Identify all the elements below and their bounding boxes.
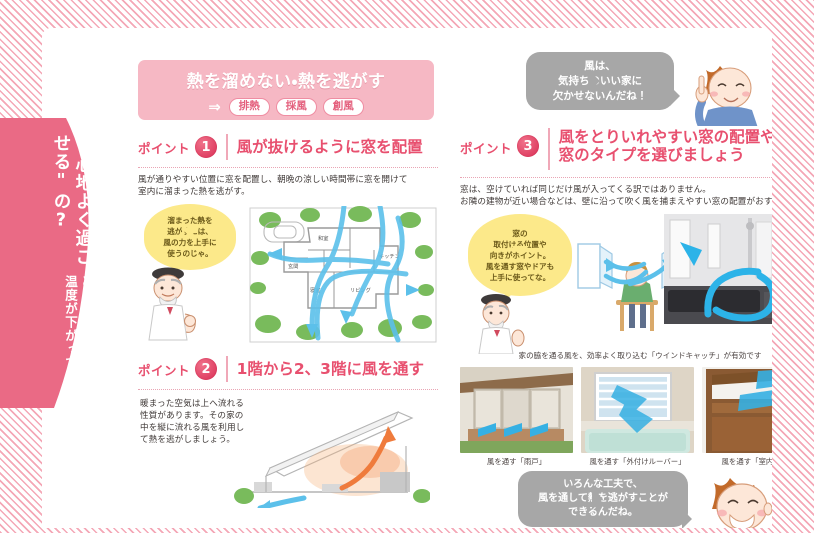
point-1-heading: ポイント 1 風が抜けるように窓を配置 <box>138 134 438 160</box>
header-chip-row: ⇒ 排熱 採風 創風 <box>138 98 434 116</box>
arrow-icon: ⇒ <box>208 98 221 116</box>
point-1-number-badge: 1 <box>195 136 217 158</box>
bottom-bubble-figure: いろんな工夫で、 風を通して熱を逃がすことが できるんだね。 <box>460 469 772 528</box>
point-1-figure: 溜まった熱を 逃がすには、 風の力を上手に 使うのじゃ。 <box>138 204 438 344</box>
shutter-photo <box>460 367 573 453</box>
point-2-title: 1階から2、3階に風を通す <box>237 360 424 378</box>
point-2-heading: ポイント 2 1階から2、3階に風を通す <box>138 356 438 382</box>
svg-text:玄関: 玄関 <box>288 262 298 270</box>
point-1-title: 風が抜けるように窓を配置 <box>237 138 423 156</box>
point-1-body: 風が通りやすい位置に窓を配置し、朝晩の涼しい時間帯に窓を開けて室内に溜まった熱を… <box>138 174 408 198</box>
svg-text:和室: 和室 <box>318 234 328 242</box>
point-2-number-badge: 2 <box>195 358 217 380</box>
interior-door-photo <box>702 367 772 453</box>
chip-hainetsu: 排熱 <box>229 98 270 116</box>
top-speech-bubble: 風は、 気持ちのいい家に 欠かせないんだね！ <box>526 52 674 110</box>
point-1-divider <box>226 134 228 160</box>
point-1-rule <box>138 167 438 168</box>
floorplan-diagram: 和室 キッチン 玄関 寝室 リビング <box>248 206 438 344</box>
point-3-figure: 窓の 取付ける位置や 向きがポイント。 風を通す窓やドアも 上手に使ってな。 <box>460 214 772 354</box>
point-3-divider <box>548 128 550 170</box>
point-3-bubble-text: 窓の 取付ける位置や 向きがポイント。 風を通す窓やドアも 上手に使ってな。 <box>486 228 554 283</box>
chip-soufu: 創風 <box>323 98 364 116</box>
photo-row: 風を通す「雨戸」 <box>460 367 772 467</box>
grandpa-illustration-2 <box>466 292 532 354</box>
house-section-diagram <box>230 396 430 508</box>
point-3-label: ポイント <box>460 138 512 157</box>
point-3-number-badge: 3 <box>517 135 539 157</box>
top-bubble-tail <box>670 86 690 106</box>
right-column: 風は、 気持ちのいい家に 欠かせないんだね！ ポイント 3 <box>460 48 772 528</box>
section-header-title: 熱を溜めない・熱を逃がす <box>138 67 434 92</box>
photo-caption-louver: 風を通す「外付けルーバー」 <box>581 456 694 467</box>
point-2-divider <box>226 356 228 382</box>
point-1-label: ポイント <box>138 138 190 157</box>
point-1-bubble-text: 溜まった熱を 逃がすには、 風の力を上手に 使うのじゃ。 <box>163 215 216 259</box>
boy-illustration-bottom <box>696 469 772 528</box>
point-3-title-line1: 風をとりいれやすい窓の配置や <box>559 128 772 146</box>
section-header-band: 熱を溜めない・熱を逃がす ⇒ 排熱 採風 創風 <box>138 60 434 120</box>
photo-item-interior-door: 風を通す「室内ドア」 <box>702 367 772 467</box>
louver-photo <box>581 367 694 453</box>
photo-caption-shutter: 風を通す「雨戸」 <box>460 456 573 467</box>
bottom-bubble-text: いろんな工夫で、 風を通して熱を逃がすことが できるんだね。 <box>538 478 668 520</box>
point-3-rule <box>460 177 772 178</box>
point-2-rule <box>138 389 438 390</box>
point-3-body-line2: お隣の建物が近い場合などは、壁に沿って吹く風を捕まえやすい窓の配置がおすすめです… <box>460 196 772 208</box>
photo-caption-interior-door: 風を通す「室内ドア」 <box>702 456 772 467</box>
point-3-heading: ポイント 3 風をとりいれやすい窓の配置や 窓のタイプを選びましょう <box>460 128 772 170</box>
photo-item-louver: 風を通す「外付けルーバー」 <box>581 367 694 467</box>
sidebar-wedge <box>0 118 100 408</box>
left-column: 熱を溜めない・熱を逃がす ⇒ 排熱 採風 創風 ポイント 1 風が抜けるように窓… <box>138 60 438 511</box>
point-3-title-line2: 窓のタイプを選びましょう <box>559 146 772 164</box>
chip-saifu: 採風 <box>276 98 317 116</box>
boy-illustration-top <box>690 50 772 126</box>
photo-item-shutter: 風を通す「雨戸」 <box>460 367 573 467</box>
content-card: 熱を溜めない・熱を逃がす ⇒ 排熱 採風 創風 ポイント 1 風が抜けるように窓… <box>42 28 772 528</box>
top-bubble-figure: 風は、 気持ちのいい家に 欠かせないんだね！ <box>460 48 772 126</box>
point-1-speech-bubble: 溜まった熱を 逃がすには、 風の力を上手に 使うのじゃ。 <box>144 204 236 270</box>
point-3-body-line1: 窓は、空けていれば同じだけ風が入ってくる訳ではありません。 <box>460 184 772 196</box>
point-2-figure: 暖まった空気は上へ流れる性質があります。その家の中を縦に流れる風を利用して熱を逃… <box>138 396 438 511</box>
point-2-label: ポイント <box>138 360 190 379</box>
bathroom-photo <box>664 214 772 324</box>
grandpa-illustration <box>138 264 202 344</box>
point-3-speech-bubble: 窓の 取付ける位置や 向きがポイント。 風を通す窓やドアも 上手に使ってな。 <box>468 214 572 296</box>
top-bubble-text: 風は、 気持ちのいい家に 欠かせないんだね！ <box>553 59 648 104</box>
bottom-speech-bubble: いろんな工夫で、 風を通して熱を逃がすことが できるんだね。 <box>518 471 688 527</box>
point-3-title: 風をとりいれやすい窓の配置や 窓のタイプを選びましょう <box>559 128 772 164</box>
